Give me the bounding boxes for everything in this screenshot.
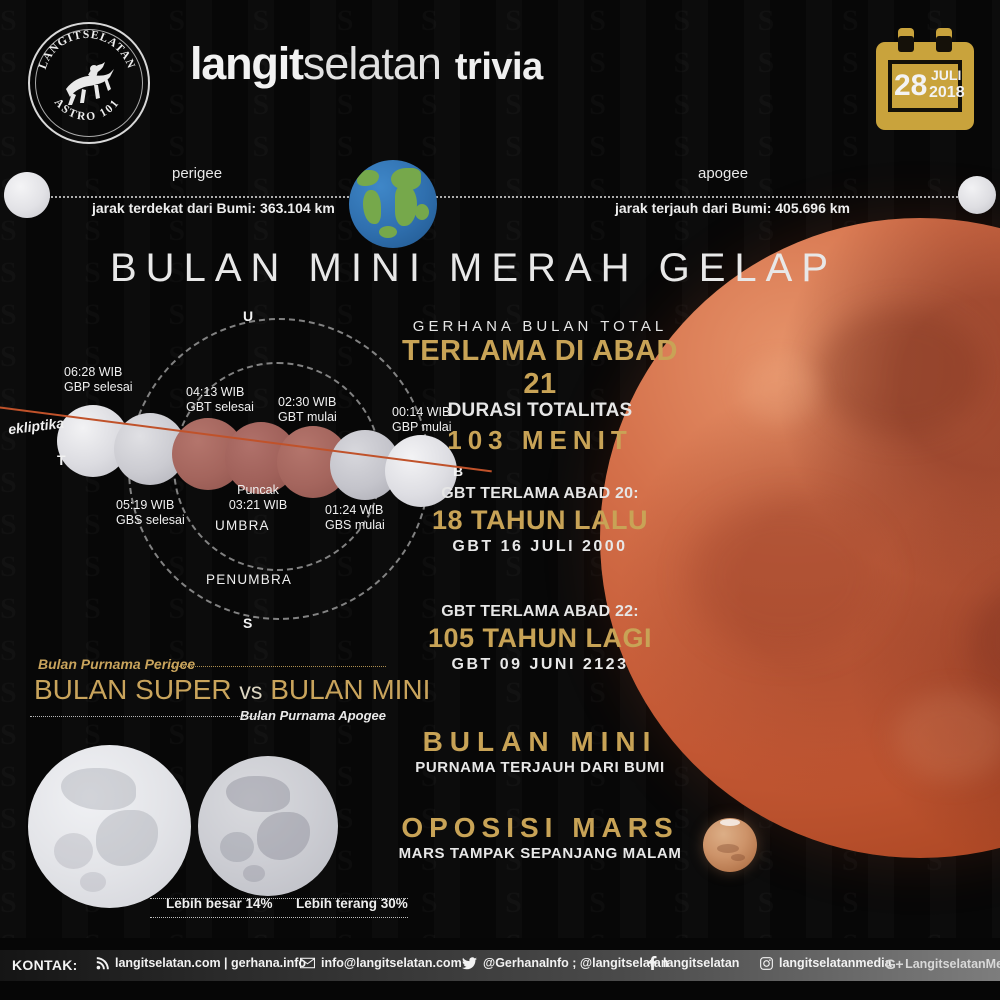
callout-line-bottom bbox=[150, 917, 408, 918]
phase-label-gbp-selesai: 06:28 WIB GBP selesai bbox=[64, 365, 133, 395]
mars-marking bbox=[717, 844, 739, 853]
mars-marking bbox=[731, 854, 745, 861]
phase-time: 02:30 WIB bbox=[278, 395, 336, 409]
langitselatan-logo bbox=[28, 22, 150, 144]
mars-planet-icon bbox=[703, 818, 757, 872]
penumbra-label: PENUMBRA bbox=[206, 572, 292, 587]
stat-block-mini-moon: BULAN MINI PURNAMA TERJAUH DARI BUMI bbox=[390, 726, 690, 776]
stat-caption: DURASI TOTALITAS bbox=[390, 400, 690, 422]
footer-item-text: langitselatan.com | gerhana.info bbox=[115, 956, 306, 970]
calendar-year: 2018 bbox=[929, 84, 965, 101]
phase-event: GBS selesai bbox=[116, 513, 185, 527]
compare-heading: BULAN SUPER vs BULAN MINI bbox=[34, 674, 430, 706]
footer-item-text: LangitselatanMedia bbox=[905, 957, 1000, 971]
brand-selatan: selatan bbox=[303, 38, 441, 89]
footer-item-website[interactable]: langitselatan.com | gerhana.info bbox=[96, 956, 306, 970]
footer-item-email[interactable]: info@langitselatan.com bbox=[300, 956, 462, 970]
googleplus-icon: G+ bbox=[885, 956, 903, 972]
mini-moon-icon bbox=[198, 756, 338, 896]
perigee-label: perigee bbox=[172, 165, 222, 182]
stat-value: 105 TAHUN LAGI bbox=[390, 623, 690, 654]
stat-caption: GBT TERLAMA ABAD 22: bbox=[390, 603, 690, 621]
compare-top-note: Bulan Purnama Perigee bbox=[38, 656, 195, 672]
footer-item-googleplus[interactable]: G+ LangitselatanMedia bbox=[885, 956, 1000, 972]
phase-label-gbs-mulai: 01:24 WIB GBS mulai bbox=[325, 503, 385, 533]
footer-item-twitter[interactable]: @GerhanaInfo ; @langitselatan bbox=[462, 956, 669, 970]
footer-item-text: langitselatan bbox=[663, 956, 739, 970]
phase-label-gbs-selesai: 05:19 WIB GBS selesai bbox=[116, 498, 185, 528]
stat-subtext: MARS TAMPAK SEPANJANG MALAM bbox=[390, 845, 690, 862]
stat-block-century22: GBT TERLAMA ABAD 22: 105 TAHUN LAGI GBT … bbox=[390, 603, 690, 674]
instagram-icon bbox=[760, 957, 773, 970]
horse-rider-icon bbox=[58, 55, 120, 111]
footer-kontak-label: KONTAK: bbox=[12, 957, 78, 973]
compare-dash-bottom bbox=[30, 716, 266, 717]
stat-caption: GERHANA BULAN TOTAL bbox=[390, 318, 690, 335]
phase-time: 01:24 WIB bbox=[325, 503, 383, 517]
calendar-notch-right bbox=[936, 36, 952, 52]
footer-item-text: info@langitselatan.com bbox=[321, 956, 462, 970]
umbra-label: UMBRA bbox=[215, 518, 270, 533]
apogee-dotted-line bbox=[433, 196, 961, 198]
compass-south: S bbox=[243, 615, 252, 631]
facebook-icon bbox=[648, 956, 657, 970]
perigee-dotted-line bbox=[48, 196, 353, 198]
phase-label-gbt-mulai: 02:30 WIB GBT mulai bbox=[278, 395, 337, 425]
phase-time: 06:28 WIB bbox=[64, 365, 122, 379]
apogee-label: apogee bbox=[698, 165, 748, 182]
earth-icon bbox=[349, 160, 437, 248]
footer-item-facebook[interactable]: langitselatan bbox=[648, 956, 739, 970]
compare-heading-left: BULAN SUPER bbox=[34, 674, 232, 705]
peak-text: Puncak bbox=[237, 483, 279, 497]
apogee-detail: jarak terjauh dari Bumi: 405.696 km bbox=[615, 200, 850, 216]
phase-label-gbt-selesai: 04:13 WIB GBT selesai bbox=[186, 385, 254, 415]
footer-contact-bar: KONTAK: langitselatan.com | gerhana.info… bbox=[0, 938, 1000, 1000]
phase-time: 05:19 WIB bbox=[116, 498, 174, 512]
stat-block-longest-eclipse: GERHANA BULAN TOTAL TERLAMA DI ABAD 21 bbox=[390, 318, 690, 401]
footer-item-text: @GerhanaInfo ; @langitselatan bbox=[483, 956, 669, 970]
compare-heading-vs: vs bbox=[239, 678, 262, 704]
stat-block-century20: GBT TERLAMA ABAD 20: 18 TAHUN LALU GBT 1… bbox=[390, 485, 690, 556]
compass-north: U bbox=[243, 308, 253, 324]
twitter-icon bbox=[462, 957, 477, 970]
stat-value: 103 MENIT bbox=[390, 425, 690, 456]
footer-item-instagram[interactable]: langitselatanmedia bbox=[760, 956, 892, 970]
page-title: BULAN MINI MERAH GELAP bbox=[110, 246, 837, 291]
stat-value: 18 TAHUN LALU bbox=[390, 505, 690, 536]
stat-subtext: PURNAMA TERJAUH DARI BUMI bbox=[390, 759, 690, 776]
callout-brightness: Lebih terang 30% bbox=[296, 896, 408, 911]
phase-event: GBT mulai bbox=[278, 410, 337, 424]
brand-title: langitselatantrivia bbox=[190, 38, 543, 90]
perigee-detail: jarak terdekat dari Bumi: 363.104 km bbox=[92, 200, 335, 216]
brand-trivia: trivia bbox=[455, 46, 543, 88]
calendar-day: 28 bbox=[894, 68, 927, 104]
brand-langit: langit bbox=[190, 38, 303, 89]
calendar-icon: 28 JULI 2018 bbox=[876, 28, 974, 130]
compare-dash-top bbox=[168, 666, 386, 667]
phase-time: 04:13 WIB bbox=[186, 385, 244, 399]
stat-caption: GBT TERLAMA ABAD 20: bbox=[390, 485, 690, 503]
stat-subtext: GBT 16 JULI 2000 bbox=[390, 538, 690, 556]
perigee-moon-icon bbox=[4, 172, 50, 218]
compass-east: T bbox=[57, 452, 66, 468]
apogee-moon-icon bbox=[958, 176, 996, 214]
stat-value: TERLAMA DI ABAD 21 bbox=[390, 335, 690, 401]
rss-icon bbox=[96, 957, 109, 970]
calendar-notch-left bbox=[898, 36, 914, 52]
calendar-month: JULI bbox=[931, 68, 961, 83]
mars-polar-cap bbox=[720, 819, 740, 826]
peak-label: Puncak 03:21 WIB bbox=[198, 483, 318, 513]
infographic-root: S S S S S S S S S S S S S S S S S S S S … bbox=[0, 0, 1000, 1000]
stat-block-duration: DURASI TOTALITAS 103 MENIT bbox=[390, 400, 690, 456]
stat-block-mars-opposition: OPOSISI MARS MARS TAMPAK SEPANJANG MALAM bbox=[390, 812, 690, 862]
stat-subtext: GBT 09 JUNI 2123 bbox=[390, 656, 690, 674]
stat-value: BULAN MINI bbox=[390, 726, 690, 758]
super-moon-icon bbox=[28, 745, 191, 908]
phase-event: GBP selesai bbox=[64, 380, 133, 394]
callout-size: Lebih besar 14% bbox=[166, 896, 273, 911]
phase-event: GBT selesai bbox=[186, 400, 254, 414]
stat-value: OPOSISI MARS bbox=[390, 812, 690, 844]
peak-time: 03:21 WIB bbox=[229, 498, 287, 512]
compare-bottom-note: Bulan Purnama Apogee bbox=[240, 708, 386, 723]
footer-item-text: langitselatanmedia bbox=[779, 956, 892, 970]
compare-heading-right: BULAN MINI bbox=[270, 674, 430, 705]
phase-event: GBS mulai bbox=[325, 518, 385, 532]
envelope-icon bbox=[300, 957, 315, 969]
